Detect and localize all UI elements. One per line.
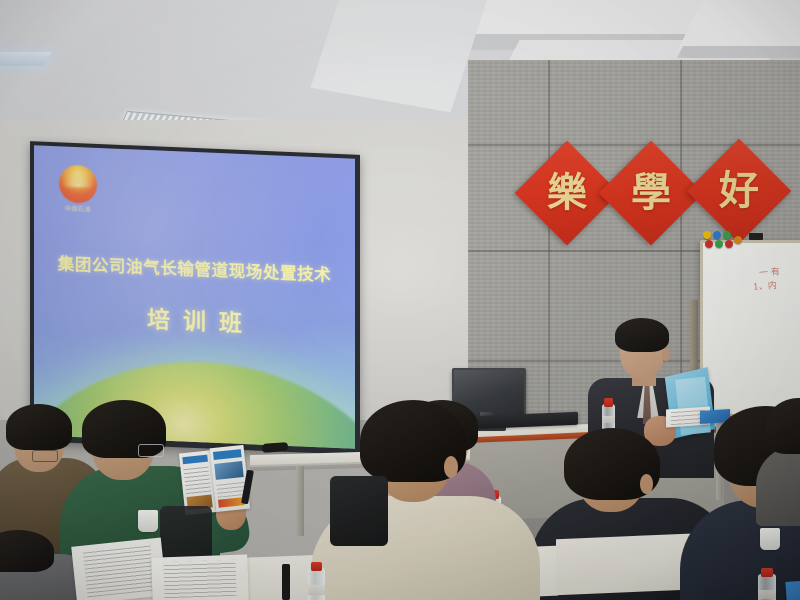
wall-banner-xue: 學 xyxy=(599,141,704,246)
magnet-blue[interactable] xyxy=(713,231,721,239)
attendee-grey-front-hair xyxy=(0,530,54,572)
bottle-label xyxy=(308,585,325,595)
attendee-dark-suit-centre-ear xyxy=(640,474,653,494)
petrochina-logo-caption: 中国石油 xyxy=(56,203,100,214)
magnet-red[interactable] xyxy=(705,240,713,248)
whiteboard-magnets[interactable] xyxy=(703,231,747,251)
attendee-navy-right-mid-body xyxy=(756,446,800,526)
whiteboard-clip[interactable] xyxy=(749,233,763,240)
chair-back[interactable] xyxy=(330,476,388,546)
brochure-right-photo xyxy=(214,461,244,480)
front-documents-2-lines xyxy=(163,559,237,598)
front-documents-2[interactable] xyxy=(151,554,249,600)
ceiling-light-panel xyxy=(0,52,52,66)
attendee-green-sweater-glasses xyxy=(138,444,164,457)
bottle-cap xyxy=(604,398,613,407)
presenter-ear xyxy=(662,348,670,361)
magnet-green-2[interactable] xyxy=(715,240,723,248)
brochure-right-lines xyxy=(216,481,245,498)
attendee-cream-jacket-ear xyxy=(444,456,458,478)
petrochina-sun-icon xyxy=(59,164,97,204)
classroom-photo: 樂 學 好 一 有 1、内 xyxy=(0,0,800,600)
front-documents-lines xyxy=(83,544,156,597)
whiteboard-handwriting-2: 1、内 xyxy=(753,278,778,293)
water-bottle-front-left[interactable] xyxy=(308,562,325,600)
slide-subtitle: 培训班 xyxy=(34,295,355,342)
paper-cup-2[interactable] xyxy=(760,528,780,550)
magnet-yellow[interactable] xyxy=(703,231,711,239)
mid-desk-leg xyxy=(296,466,304,536)
water-bottle-front-right[interactable] xyxy=(758,568,776,600)
paper-cup[interactable] xyxy=(138,510,158,532)
petrochina-ray-icon xyxy=(64,171,92,188)
remote-control[interactable] xyxy=(262,442,288,453)
blue-notebook-front[interactable] xyxy=(785,578,800,600)
bottle-label xyxy=(758,590,776,599)
pen-front[interactable] xyxy=(282,564,290,600)
attendee-navy-right-mid-hair xyxy=(766,398,800,454)
attendee-navy-right-mid xyxy=(756,392,800,512)
attendee-brown-jacket-glasses xyxy=(32,450,58,462)
bottle-cap xyxy=(761,568,773,577)
bottle-cap xyxy=(311,562,323,571)
presenter-hair xyxy=(615,318,669,352)
wall-banner-hao: 好 xyxy=(687,139,792,244)
petrochina-logo: 中国石油 xyxy=(56,164,100,218)
brochure-left-lines xyxy=(183,466,211,494)
magnet-red-2[interactable] xyxy=(725,240,733,248)
magnet-green[interactable] xyxy=(723,231,731,239)
wall-banner-hao-char: 好 xyxy=(702,154,776,228)
slide-title: 集团公司油气长输管道现场处置技术 xyxy=(34,249,355,286)
whiteboard-handwriting-1: 一 有 xyxy=(759,264,781,278)
wall-banner-xue-char: 學 xyxy=(614,156,688,230)
magnet-orange[interactable] xyxy=(734,236,742,244)
wall-banner-le-char: 樂 xyxy=(530,156,604,230)
